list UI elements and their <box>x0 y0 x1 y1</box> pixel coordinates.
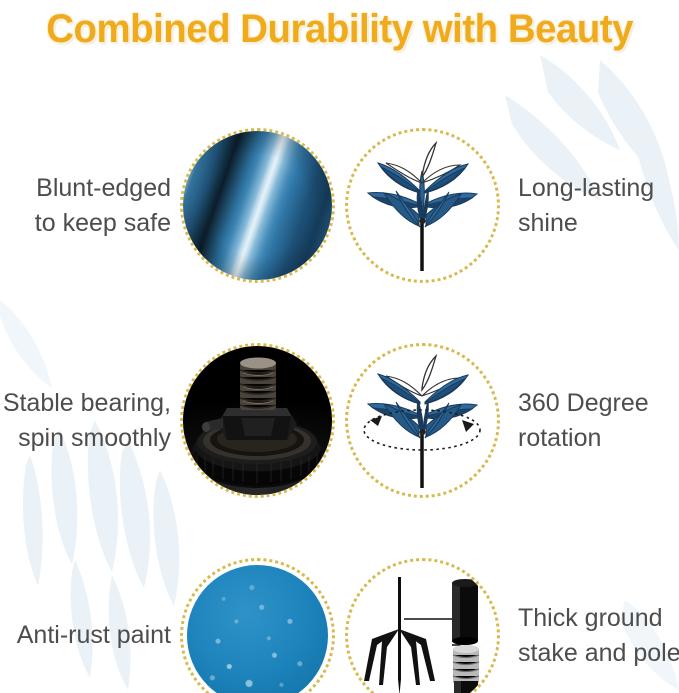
feature-4-label-line-1: 360 Degree <box>518 386 679 421</box>
feature-4-label: 360 Degree rotation <box>500 386 679 456</box>
feature-row-3: Anti-rust paint <box>0 528 679 693</box>
rotation-diagram-circle <box>345 343 500 498</box>
product-feature-infographic: Combined Durability with Beauty Blunt-ed… <box>0 0 679 693</box>
feature-1-label: Blunt-edged to keep safe <box>0 171 180 241</box>
blade-closeup-circle <box>180 128 335 283</box>
feature-row-3-images <box>180 558 500 693</box>
feature-1-label-line-2: to keep safe <box>0 206 171 241</box>
dotted-circle-border <box>180 343 335 498</box>
feature-row-1: Blunt-edged to keep safe <box>0 98 679 313</box>
feature-1-label-line-1: Blunt-edged <box>0 171 171 206</box>
page-title-banner: Combined Durability with Beauty <box>0 0 679 58</box>
feature-row-2: Stable bearing, spin smoothly <box>0 313 679 528</box>
feature-3-label: Stable bearing, spin smoothly <box>0 386 180 456</box>
paint-droplets-circle <box>180 558 335 693</box>
dotted-circle-border <box>345 128 500 283</box>
wind-spinner-circle <box>345 128 500 283</box>
feature-5-label-line-1: Anti-rust paint <box>0 618 171 653</box>
bearing-closeup-circle <box>180 343 335 498</box>
dotted-circle-border <box>345 343 500 498</box>
feature-2-label: Long-lasting shine <box>500 171 679 241</box>
dotted-circle-border <box>180 128 335 283</box>
feature-6-label: Thick ground stake and pole <box>500 601 679 671</box>
feature-3-label-line-1: Stable bearing, <box>0 386 171 421</box>
feature-6-label-line-2: stake and pole <box>518 636 679 671</box>
feature-2-label-line-2: shine <box>518 206 679 241</box>
feature-2-label-line-1: Long-lasting <box>518 171 679 206</box>
feature-rows: Blunt-edged to keep safe <box>0 58 679 693</box>
feature-4-label-line-2: rotation <box>518 421 679 456</box>
dotted-circle-border <box>345 558 500 693</box>
feature-3-label-line-2: spin smoothly <box>0 421 171 456</box>
feature-6-label-line-1: Thick ground <box>518 601 679 636</box>
feature-row-2-images <box>180 343 500 498</box>
feature-row-1-images <box>180 128 500 283</box>
feature-5-label: Anti-rust paint <box>0 618 180 653</box>
stake-and-pole-circle <box>345 558 500 693</box>
page-title: Combined Durability with Beauty <box>46 7 633 51</box>
